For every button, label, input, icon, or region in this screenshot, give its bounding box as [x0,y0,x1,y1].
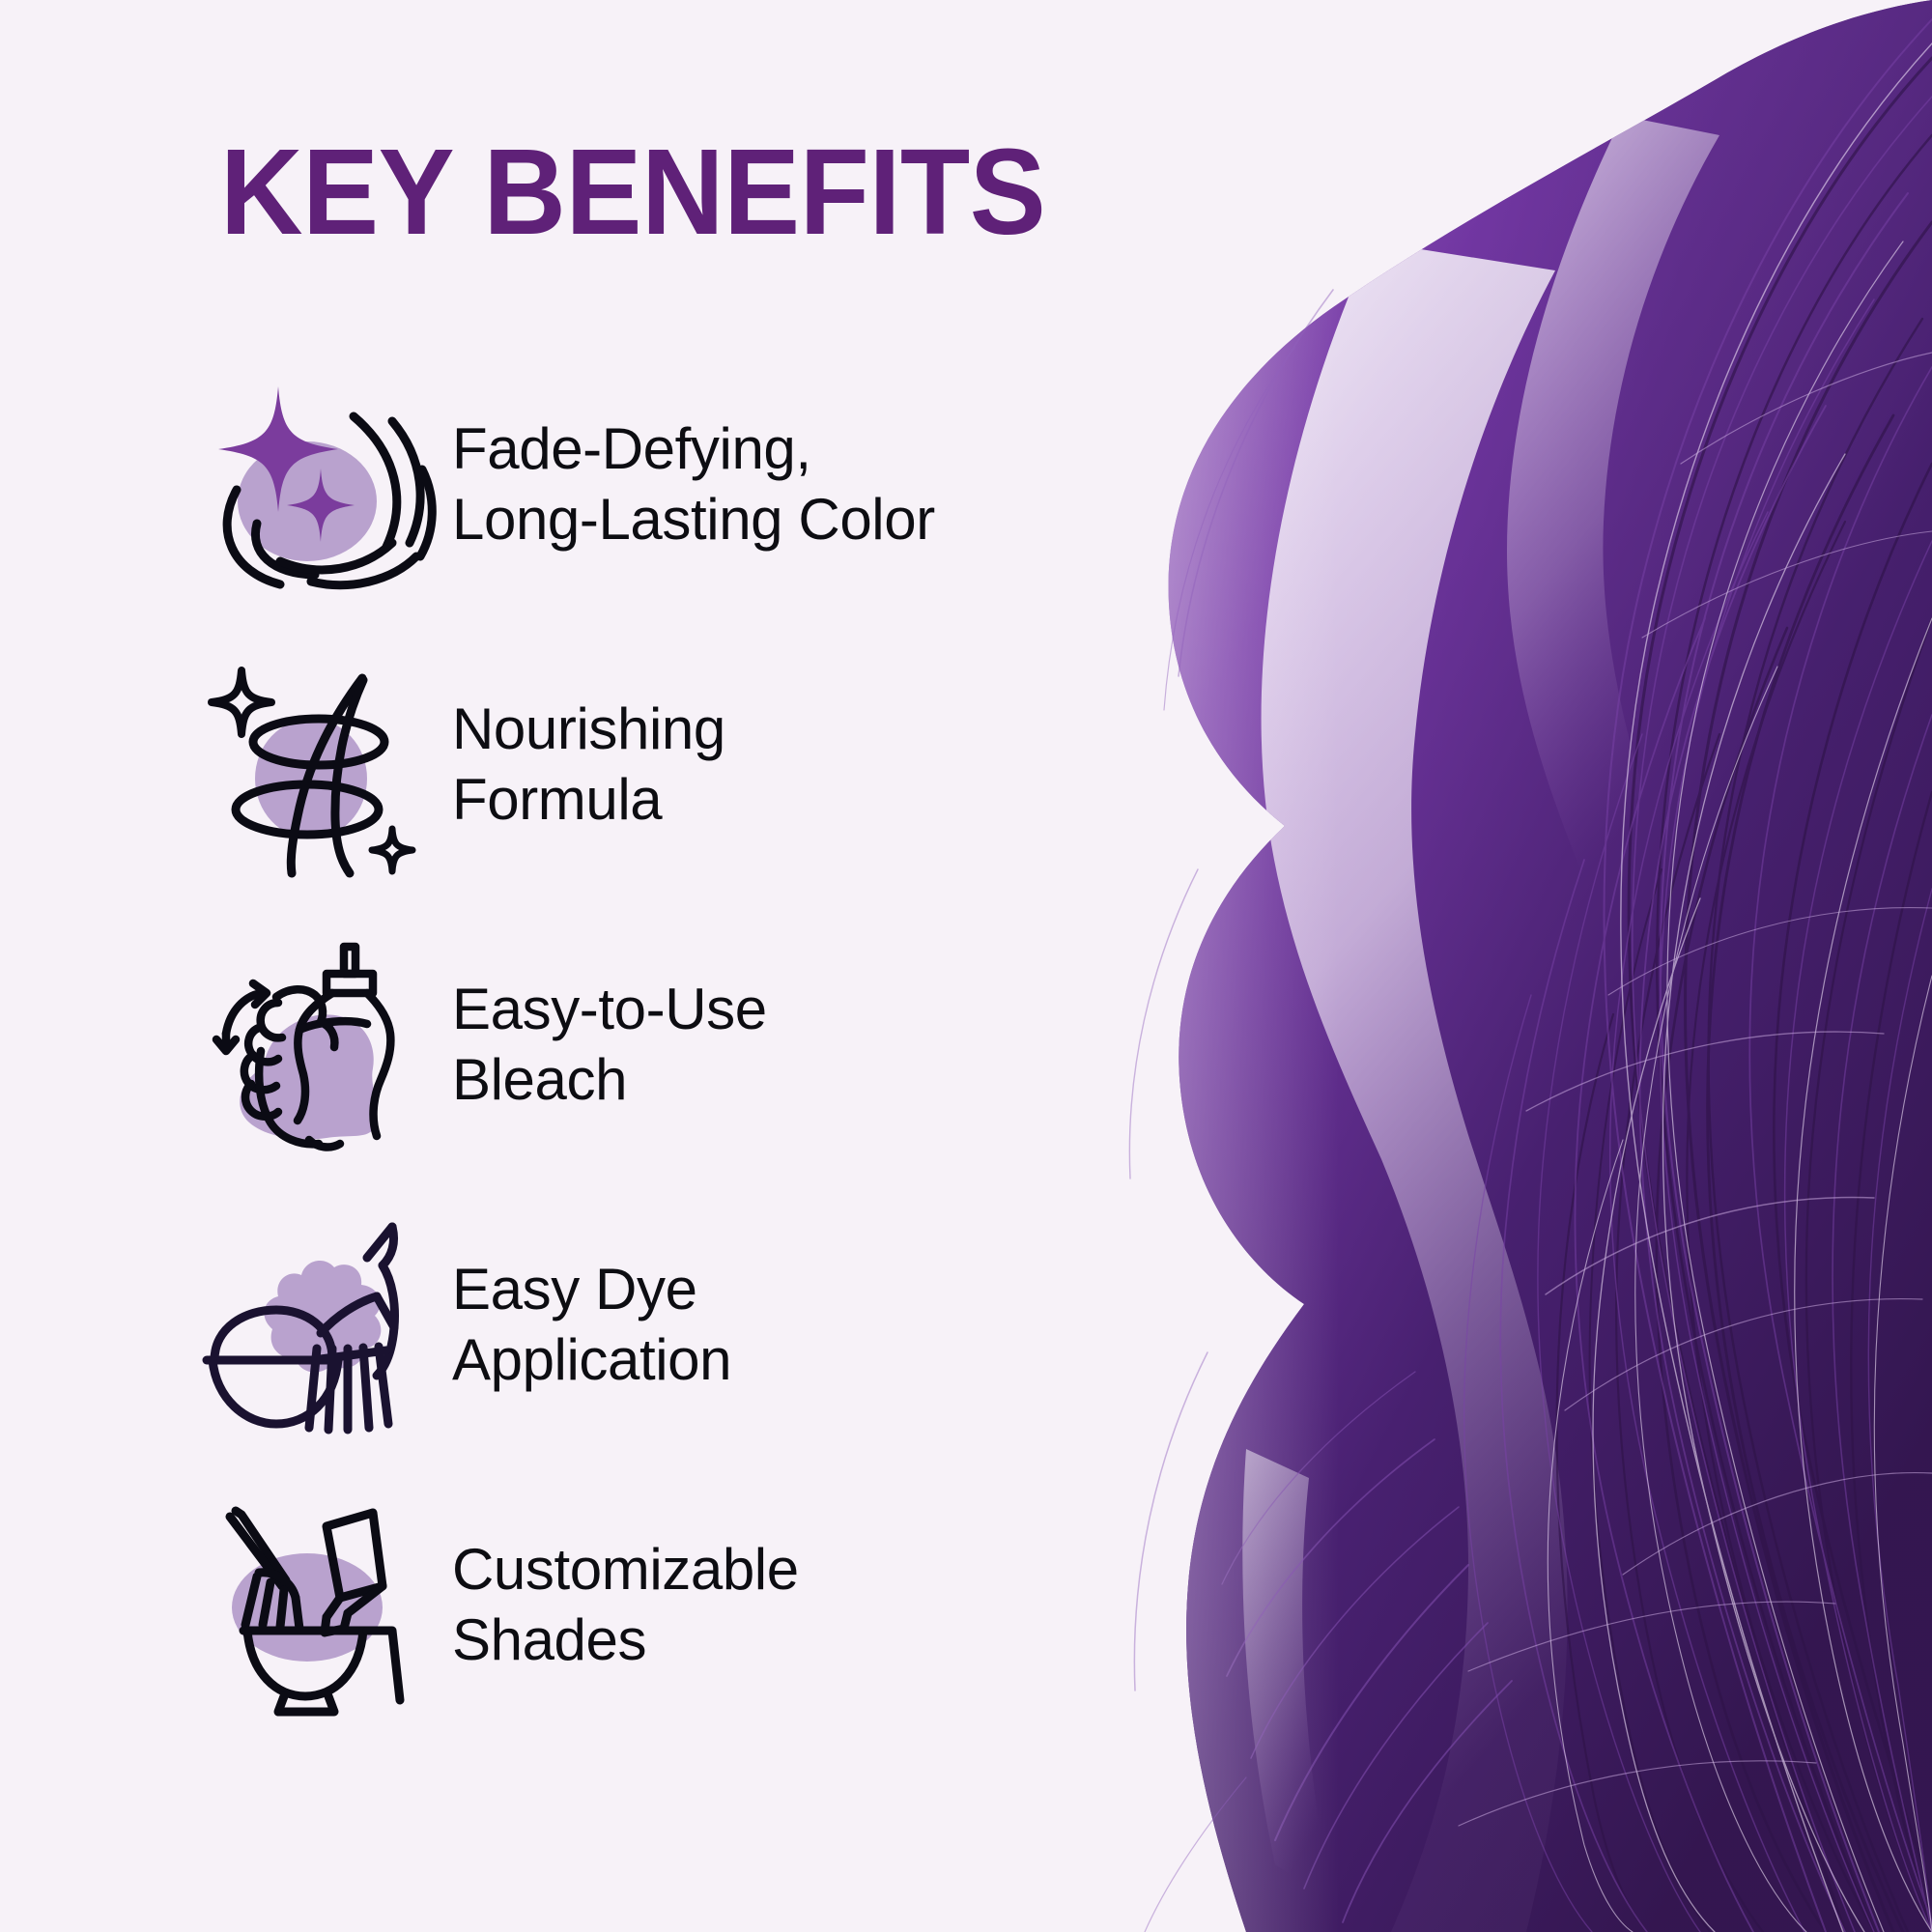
mixing-bowl-tube-brush-icon [203,1493,425,1716]
benefit-label-nourishing-formula: Nourishing Formula [452,694,725,835]
benefit-item-easy-dye-application: Easy Dye Application [203,1212,1014,1436]
hair-strand-rings-icon [203,653,425,875]
benefit-item-nourishing-formula: Nourishing Formula [203,652,1014,876]
key-benefits-panel: KEY BENEFITS [0,0,1932,1932]
bowl-dye-brush-icon [203,1213,425,1435]
page-title: KEY BENEFITS [220,131,1045,253]
benefit-item-fade-defying: Fade-Defying, Long-Lasting Color [203,372,1014,596]
benefit-label-fade-defying: Fade-Defying, Long-Lasting Color [452,413,935,554]
benefit-label-easy-to-use-bleach: Easy-to-Use Bleach [452,974,767,1115]
sparkle-swirl-icon [203,373,425,595]
benefit-item-customizable-shades: Customizable Shades [203,1492,1014,1717]
benefit-label-customizable-shades: Customizable Shades [452,1534,799,1675]
benefit-label-easy-dye-application: Easy Dye Application [452,1254,731,1395]
benefit-item-easy-to-use-bleach: Easy-to-Use Bleach [203,932,1014,1156]
benefits-list: Fade-Defying, Long-Lasting Color Nouris [203,372,1014,1773]
hand-applicator-bottle-icon [203,933,425,1155]
